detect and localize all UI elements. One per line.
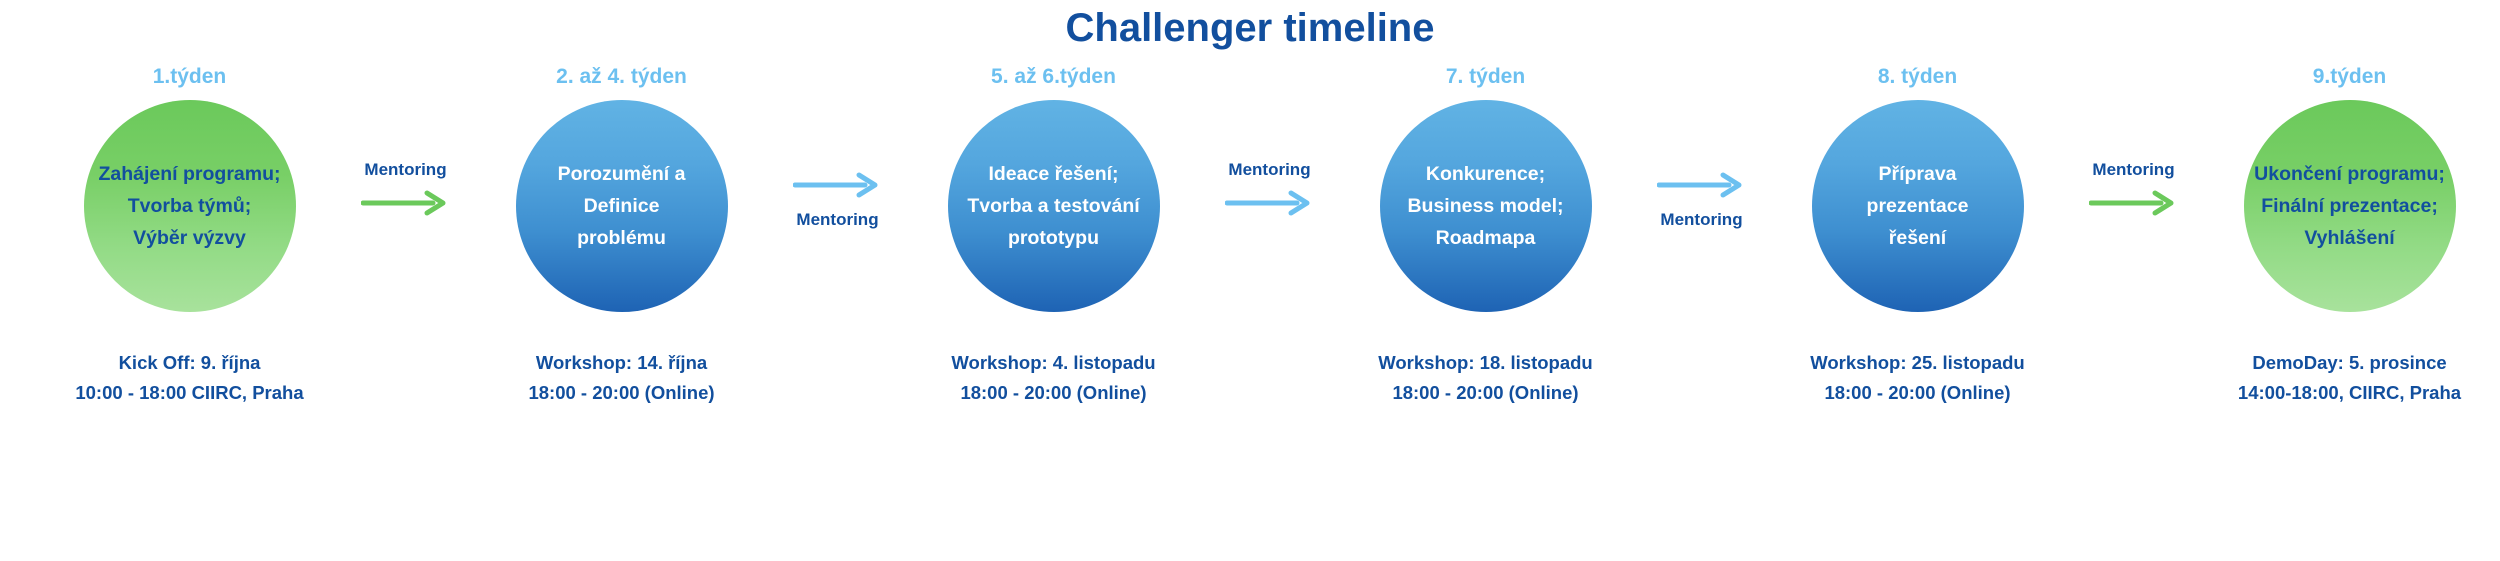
caption-line: DemoDay: 5. prosince [2238,348,2461,378]
stage-caption-3: Workshop: 4. listopadu 18:00 - 20:00 (On… [951,348,1155,408]
caption-line: 18:00 - 20:00 (Online) [951,378,1155,408]
timeline-row: 1.týden Zahájení programu; Tvorba týmů; … [0,62,2500,561]
stage-bubble-2[interactable]: Porozumění a Definice problému [516,100,728,312]
timeline-stage-6[interactable]: 9.týden Ukončení programu; Finální preze… [2182,62,2500,561]
mentoring-label-3: Mentoring [1228,160,1310,180]
arrow-right-icon [793,172,883,198]
stage-bubble-5[interactable]: Příprava prezentace řešení [1812,100,2024,312]
bubble-line: Příprava [1878,158,1956,190]
bubble-line: Tvorba týmů; [128,190,252,222]
week-label-1: 1.týden [153,62,227,100]
bubble-line: Zahájení programu; [98,158,280,190]
page-title: Challenger timeline [0,0,2500,56]
stage-bubble-3[interactable]: Ideace řešení; Tvorba a testování protot… [948,100,1160,312]
caption-line: 18:00 - 20:00 (Online) [1810,378,2024,408]
arrow-right-icon [1225,190,1315,216]
bubble-line: Roadmapa [1436,222,1536,254]
stage-caption-1: Kick Off: 9. října 10:00 - 18:00 CIIRC, … [75,348,303,408]
bubble-line: Business model; [1407,190,1563,222]
caption-line: Workshop: 4. listopadu [951,348,1155,378]
caption-line: Kick Off: 9. října [75,348,303,378]
caption-line: 18:00 - 20:00 (Online) [528,378,714,408]
stage-bubble-6[interactable]: Ukončení programu; Finální prezentace; V… [2244,100,2456,312]
arrow-right-icon [361,190,451,216]
stage-bubble-1[interactable]: Zahájení programu; Tvorba týmů; Výběr vý… [84,100,296,312]
caption-line: 14:00-18:00, CIIRC, Praha [2238,378,2461,408]
stage-caption-5: Workshop: 25. listopadu 18:00 - 20:00 (O… [1810,348,2024,408]
stage-caption-4: Workshop: 18. listopadu 18:00 - 20:00 (O… [1378,348,1592,408]
bubble-line: Vyhlášení [2304,222,2394,254]
bubble-line: Definice [584,190,660,222]
caption-line: 10:00 - 18:00 CIIRC, Praha [75,378,303,408]
timeline-stage-1[interactable]: 1.týden Zahájení programu; Tvorba týmů; … [22,62,357,561]
caption-line: 18:00 - 20:00 (Online) [1378,378,1592,408]
bubble-line: Ideace řešení; [988,158,1118,190]
caption-line: Workshop: 14. října [528,348,714,378]
arrow-right-icon [1657,172,1747,198]
caption-line: Workshop: 25. listopadu [1810,348,2024,378]
caption-line: Workshop: 18. listopadu [1378,348,1592,378]
arrow-right-icon [2089,190,2179,216]
mentoring-label-5: Mentoring [2092,160,2174,180]
week-label-4: 7. týden [1446,62,1525,100]
timeline-stage-2[interactable]: 2. až 4. týden Porozumění a Definice pro… [454,62,789,561]
bubble-line: řešení [1889,222,1946,254]
bubble-line: Porozumění a [558,158,686,190]
bubble-line: prezentace [1867,190,1969,222]
connector-3: Mentoring [1221,62,1318,561]
bubble-line: Tvorba a testování [967,190,1139,222]
mentoring-label-2: Mentoring [796,210,878,230]
bubble-line: Finální prezentace; [2261,190,2438,222]
stage-caption-6: DemoDay: 5. prosince 14:00-18:00, CIIRC,… [2238,348,2461,408]
bubble-line: prototypu [1008,222,1099,254]
bubble-line: Ukončení programu; [2254,158,2445,190]
week-label-6: 9.týden [2313,62,2387,100]
mentoring-label-4: Mentoring [1660,210,1742,230]
week-label-5: 8. týden [1878,62,1957,100]
connector-5: Mentoring [2085,62,2182,561]
connector-1: Mentoring [357,62,454,561]
connector-4: Mentoring [1653,62,1750,561]
bubble-line: Konkurence; [1426,158,1545,190]
stage-caption-2: Workshop: 14. října 18:00 - 20:00 (Onlin… [528,348,714,408]
mentoring-label-1: Mentoring [364,160,446,180]
timeline-stage-3[interactable]: 5. až 6.týden Ideace řešení; Tvorba a te… [886,62,1221,561]
week-label-2: 2. až 4. týden [556,62,687,100]
bubble-line: problému [577,222,666,254]
timeline-stage-4[interactable]: 7. týden Konkurence; Business model; Roa… [1318,62,1653,561]
challenger-timeline-slide: Challenger timeline 1.týden Zahájení pro… [0,0,2500,561]
timeline-stage-5[interactable]: 8. týden Příprava prezentace řešení Work… [1750,62,2085,561]
week-label-3: 5. až 6.týden [991,62,1116,100]
stage-bubble-4[interactable]: Konkurence; Business model; Roadmapa [1380,100,1592,312]
bubble-line: Výběr výzvy [133,222,246,254]
connector-2: Mentoring [789,62,886,561]
